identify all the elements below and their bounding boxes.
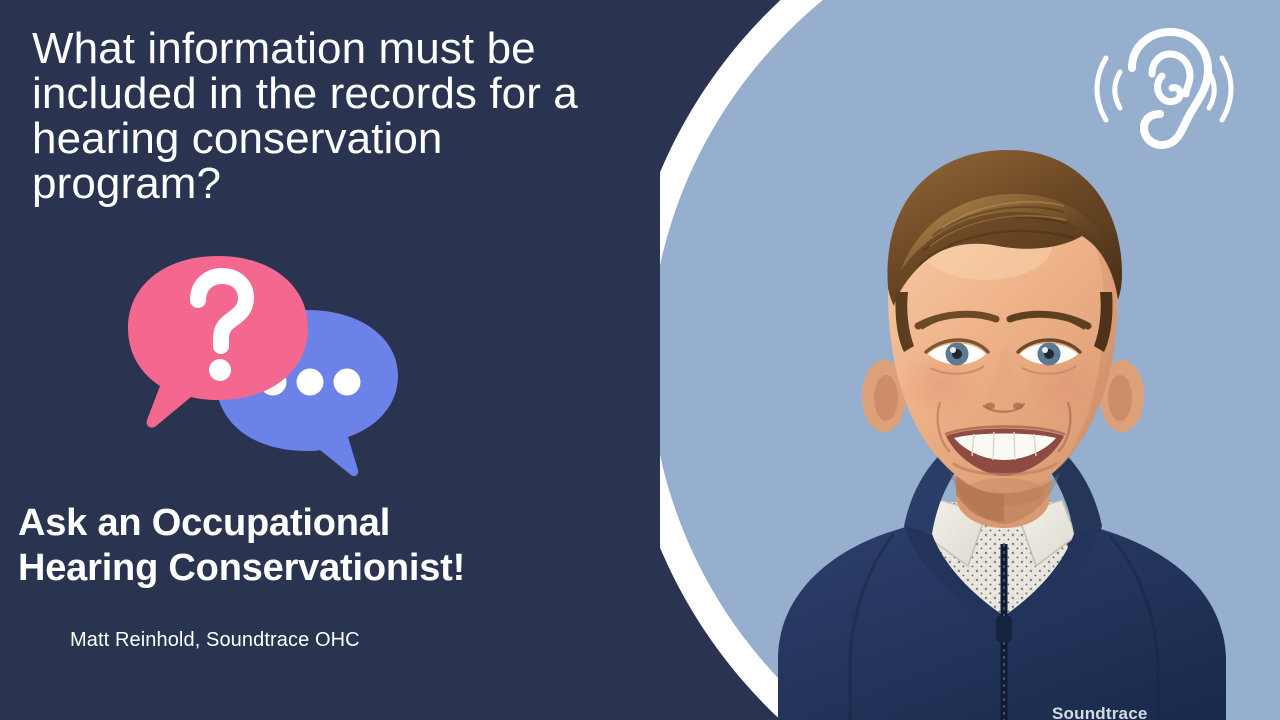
page-title: What information must be included in the… xyxy=(32,27,682,207)
portrait-photo xyxy=(718,96,1278,720)
cta-title: Ask an Occupational Hearing Conservation… xyxy=(18,501,658,591)
fleece-logo-text: Soundtrace xyxy=(1052,704,1148,720)
byline-speaker: Matt Reinhold, Soundtrace OHC xyxy=(70,629,360,652)
speech-bubbles-illustration xyxy=(126,252,416,492)
ear-with-sound-waves-icon xyxy=(1076,22,1246,152)
slide-canvas: Soundtrace What information must be incl… xyxy=(0,0,1280,720)
